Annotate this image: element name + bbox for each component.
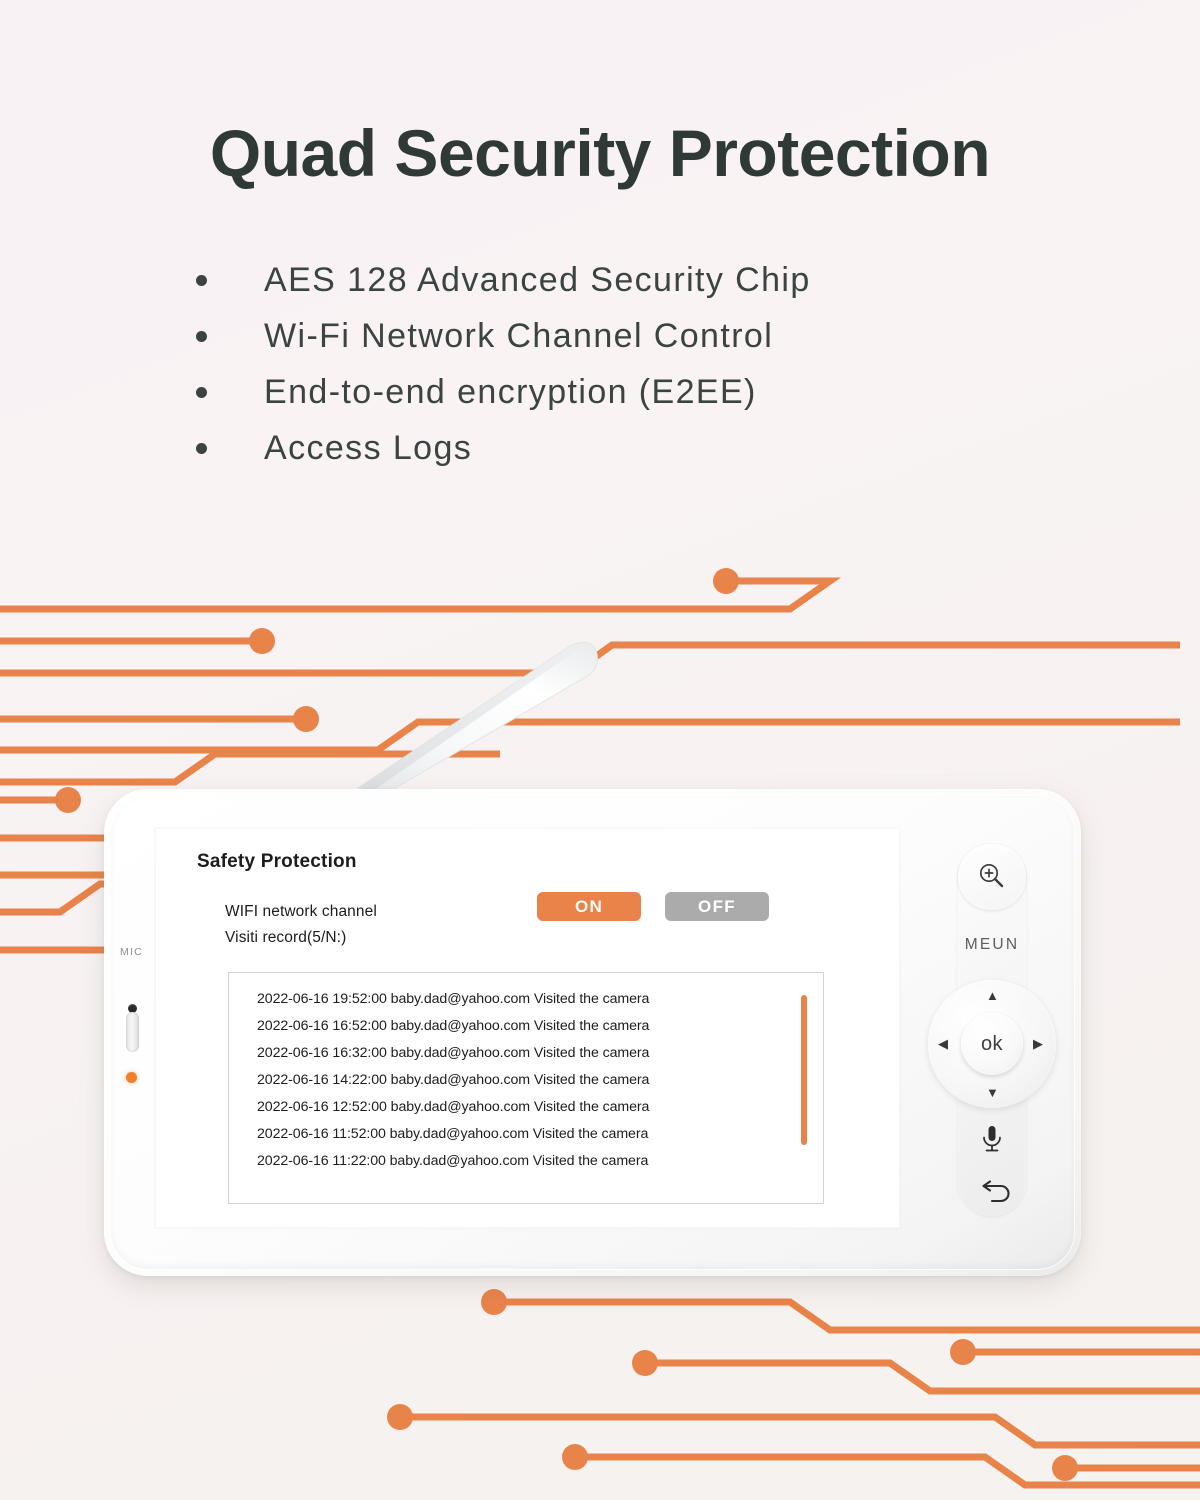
list-item: Access Logs <box>196 420 1096 476</box>
log-entry: 2022-06-16 16:32:00 baby.dad@yahoo.com V… <box>257 1045 649 1061</box>
baby-monitor-device: Safety Protection WIFI network channel V… <box>104 789 1081 1276</box>
log-entry: 2022-06-16 11:52:00 baby.dad@yahoo.com V… <box>257 1126 648 1142</box>
log-entry: 2022-06-16 11:22:00 baby.dad@yahoo.com V… <box>257 1153 648 1169</box>
menu-button[interactable]: MEUN <box>932 936 1052 954</box>
screen-title: Safety Protection <box>197 851 357 873</box>
visit-record-label: Visiti record(5/N:) <box>225 929 346 947</box>
trace-node <box>632 1350 658 1376</box>
zoom-in-button[interactable] <box>958 844 1026 910</box>
feature-label: Wi-Fi Network Channel Control <box>264 317 773 356</box>
bullet-dot-icon <box>196 387 207 398</box>
wifi-toggle-on-button[interactable]: ON <box>537 892 641 921</box>
trace-node <box>55 787 81 813</box>
trace-node <box>562 1444 588 1470</box>
dpad-right-button[interactable]: ▶ <box>1033 1037 1043 1050</box>
feature-label: End-to-end encryption (E2EE) <box>264 373 757 412</box>
bullet-dot-icon <box>196 443 207 454</box>
log-entry: 2022-06-16 19:52:00 baby.dad@yahoo.com V… <box>257 991 649 1007</box>
magnifier-plus-icon <box>975 860 1009 894</box>
wifi-toggle-off-button[interactable]: OFF <box>665 892 769 921</box>
page-title: Quad Security Protection <box>0 118 1200 189</box>
trace-node <box>481 1289 507 1315</box>
device-control-cluster: MEUN ▲ ▼ ◀ ▶ ok <box>932 844 1052 1224</box>
mic-label: MIC <box>120 946 143 958</box>
back-button[interactable] <box>932 1170 1052 1216</box>
microphone-button[interactable] <box>932 1116 1052 1162</box>
back-arrow-icon <box>974 1179 1010 1207</box>
device-screen: Safety Protection WIFI network channel V… <box>155 828 900 1228</box>
list-item: Wi-Fi Network Channel Control <box>196 308 1096 364</box>
bullet-dot-icon <box>196 275 207 286</box>
dpad-left-button[interactable]: ◀ <box>938 1037 948 1050</box>
list-item: AES 128 Advanced Security Chip <box>196 252 1096 308</box>
trace-node <box>1052 1455 1078 1481</box>
side-power-button[interactable] <box>126 1012 139 1052</box>
trace-node <box>293 706 319 732</box>
dpad-down-button[interactable]: ▼ <box>986 1086 999 1099</box>
dpad[interactable]: ▲ ▼ ◀ ▶ ok <box>928 980 1056 1108</box>
list-item: End-to-end encryption (E2EE) <box>196 364 1096 420</box>
trace-node <box>387 1404 413 1430</box>
wifi-channel-label: WIFI network channel <box>225 903 377 921</box>
trace-node <box>950 1339 976 1365</box>
log-entry: 2022-06-16 14:22:00 baby.dad@yahoo.com V… <box>257 1072 649 1088</box>
log-scrollbar[interactable] <box>801 995 807 1145</box>
feature-label: AES 128 Advanced Security Chip <box>264 261 811 300</box>
status-led-indicator <box>126 1072 137 1083</box>
feature-list: AES 128 Advanced Security Chip Wi-Fi Net… <box>196 252 1096 476</box>
microphone-icon <box>977 1122 1007 1156</box>
trace-node <box>713 568 739 594</box>
dpad-up-button[interactable]: ▲ <box>986 989 999 1002</box>
bullet-dot-icon <box>196 331 207 342</box>
log-entry: 2022-06-16 16:52:00 baby.dad@yahoo.com V… <box>257 1018 649 1034</box>
access-log-panel[interactable]: 2022-06-16 19:52:00 baby.dad@yahoo.com V… <box>228 972 824 1204</box>
log-entry: 2022-06-16 12:52:00 baby.dad@yahoo.com V… <box>257 1099 649 1115</box>
trace-node <box>249 628 275 654</box>
promo-page: Quad Security Protection AES 128 Advance… <box>0 0 1200 1500</box>
feature-label: Access Logs <box>264 429 472 468</box>
dpad-ok-button[interactable]: ok <box>961 1013 1023 1075</box>
